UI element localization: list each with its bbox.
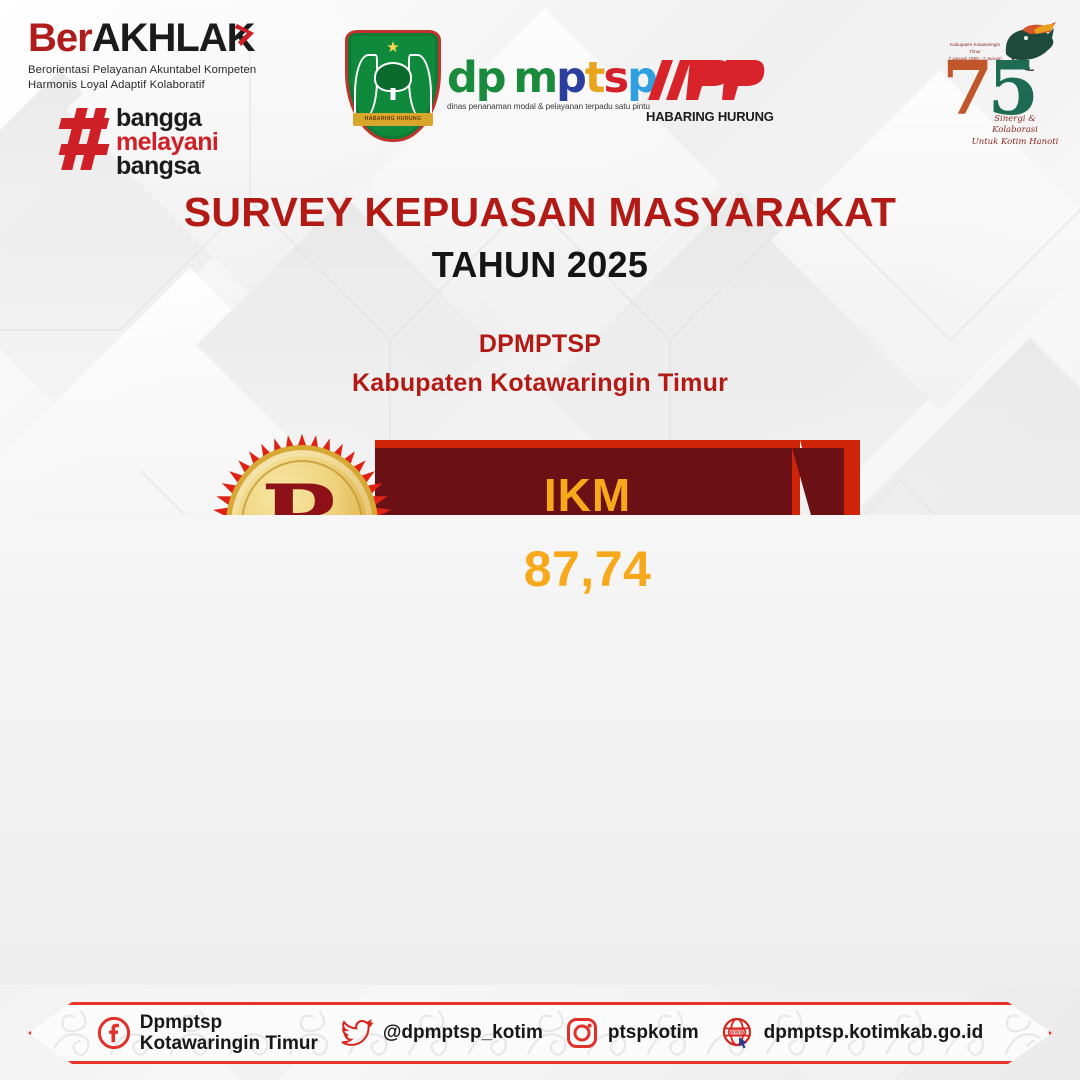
website-label: dpmptsp.kotimkab.go.id [764,1022,984,1043]
poster-canvas: BerAKHLAK Berorientasi Pelayanan Akuntab… [0,0,1080,1080]
social-website[interactable]: WWW dpmptsp.kotimkab.go.id [721,1016,984,1050]
dpm-letter-p1: p [476,53,505,103]
website-url: dpmptsp.kotimkab.go.id [764,1022,984,1043]
title-year: TAHUN 2025 [0,244,1080,286]
ikm-value: 87,74 [524,540,652,598]
page-title: SURVEY KEPUASAN MASYARAKAT [0,190,1080,235]
bangga-line3: bangsa [116,154,218,178]
bangga-line1: bangga [116,106,218,130]
berakhlak-logo: BerAKHLAK Berorientasi Pelayanan Akuntab… [28,18,288,93]
title-region: Kabupaten Kotawaringin Timur [0,369,1080,398]
title-block: SURVEY KEPUASAN MASYARAKAT TAHUN 2025 DP… [0,190,1080,398]
website-globe-icon[interactable]: WWW [721,1016,755,1050]
anniversary-tagline-line2: Untuk Kotim Hanoti [970,137,1060,148]
ikm-banner: IKM 87,74 [375,440,835,625]
kotawaringin-timur-crest-icon: ★ HABARING HURUNG [345,30,441,142]
social-twitter[interactable]: @dpmptsp_kotim [340,1016,543,1050]
dpmptsp-logo: dp mptsp dinas penanaman modal & pelayan… [447,57,637,111]
dpm-letter-m-flourish [505,53,514,103]
header-logos: BerAKHLAK Berorientasi Pelayanan Akuntab… [0,0,1080,170]
facebook-line2: Kotawaringin Timur [140,1033,318,1054]
instagram-label: ptspkotim [608,1022,699,1043]
anniversary-tagline-line1: Sinergi & Kolaborasi [970,114,1060,137]
dpm-letter-p2: p [556,53,585,103]
dpmptsp-tagline: dinas penanaman modal & pelayanan terpad… [447,101,637,111]
facebook-line1: Dpmptsp [140,1012,222,1033]
twitter-icon[interactable] [340,1016,374,1050]
facebook-icon[interactable] [97,1016,131,1050]
chevron-right-icon [234,22,260,48]
social-facebook[interactable]: Dpmptsp Kotawaringin Timur [97,1012,318,1055]
anniversary-tagline: Sinergi & Kolaborasi Untuk Kotim Hanoti [970,114,1060,148]
facebook-label: Dpmptsp Kotawaringin Timur [140,1012,318,1055]
social-instagram[interactable]: ptspkotim [565,1016,699,1050]
crest-tree-icon [376,64,410,90]
instagram-icon[interactable] [565,1016,599,1050]
dpm-letter-s: s [603,53,627,103]
berakhlak-prefix: Ber [28,16,92,60]
dpm-letter-m: m [513,53,556,103]
mpp-mark-icon [646,58,766,102]
berakhlak-suffix: AKHLAK [92,16,255,60]
crest-star-icon: ★ [386,40,399,55]
twitter-label: @dpmptsp_kotim [383,1022,543,1043]
mpp-subtitle: HABARING HURUNG [646,109,766,124]
berakhlak-values-line2: Harmonis Loyal Adaptif Kolaboratif [28,78,288,93]
dpmptsp-wordmark: dp mptsp [447,57,637,100]
berakhlak-values: Berorientasi Pelayanan Akuntabel Kompete… [28,63,288,93]
bangga-wordmark: bangga melayani bangsa [116,106,218,178]
instagram-handle: ptspkotim [608,1022,699,1043]
hashtag-icon [58,108,110,170]
bangga-melayani-bangsa-logo: bangga melayani bangsa [58,106,218,178]
title-organization: DPMPTSP [0,330,1080,359]
crest-ribbon-text: HABARING HURUNG [353,113,433,126]
dpm-letter-t: t [585,53,604,103]
anniversary-75-logo: Kabupaten Kotawaringin Timur7 Januari 19… [940,14,1062,154]
footer-contact-bar: Dpmptsp Kotawaringin Timur @dpmptsp_koti… [28,1002,1052,1064]
bangga-line2: melayani [116,130,218,154]
berakhlak-values-line1: Berorientasi Pelayanan Akuntabel Kompete… [28,63,288,78]
svg-text:WWW: WWW [729,1030,745,1036]
ikm-label: IKM [544,468,631,522]
twitter-handle: @dpmptsp_kotim [383,1022,543,1043]
mpp-logo: HABARING HURUNG [646,58,766,124]
dpm-letter-d: d [447,53,476,103]
